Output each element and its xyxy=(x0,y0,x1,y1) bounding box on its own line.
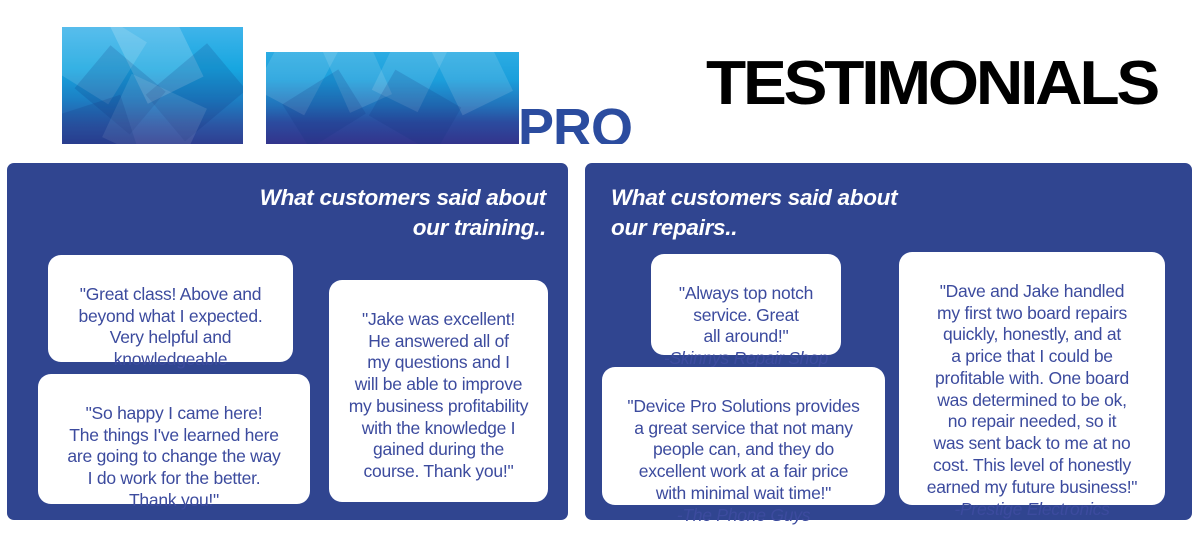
testimonial-attribution: -The Phone Guys xyxy=(611,505,876,527)
testimonials-panels: What customers said about our training..… xyxy=(0,163,1200,520)
logo-text-pro: PRO xyxy=(518,101,632,144)
panel-repairs-heading: What customers said about our repairs.. xyxy=(611,183,911,243)
device-pro-solutions-logo-mark-icon xyxy=(62,27,243,144)
page-header: PRO ONS TESTIMONIALS xyxy=(0,0,1200,163)
logo-wordmark-gradient-block xyxy=(266,52,519,144)
testimonial-card: "Great class! Above and beyond what I ex… xyxy=(48,255,293,362)
testimonial-card: "Dave and Jake handled my first two boar… xyxy=(899,252,1165,505)
testimonial-card: "Always top notch service. Great all aro… xyxy=(651,254,841,355)
testimonial-card: "Jake was excellent! He answered all of … xyxy=(329,280,548,502)
page-title: TESTIMONIALS xyxy=(706,53,1151,115)
panel-repairs: What customers said about our repairs.. … xyxy=(585,163,1192,520)
logo-wordmark: PRO ONS xyxy=(266,52,651,144)
testimonial-attribution: -Prestige Electronics xyxy=(908,499,1156,521)
testimonial-quote: "Jake was excellent! He answered all of … xyxy=(349,309,529,481)
testimonial-card: "Device Pro Solutions provides a great s… xyxy=(602,367,885,505)
panel-training-heading: What customers said about our training.. xyxy=(246,183,546,243)
testimonial-quote: "Device Pro Solutions provides a great s… xyxy=(627,396,859,503)
testimonial-quote: "Dave and Jake handled my first two boar… xyxy=(927,281,1138,497)
testimonial-quote: "So happy I came here! The things I've l… xyxy=(67,403,280,510)
panel-training: What customers said about our training..… xyxy=(7,163,568,520)
testimonial-card: "So happy I came here! The things I've l… xyxy=(38,374,310,504)
testimonial-quote: "Always top notch service. Great all aro… xyxy=(679,283,813,347)
